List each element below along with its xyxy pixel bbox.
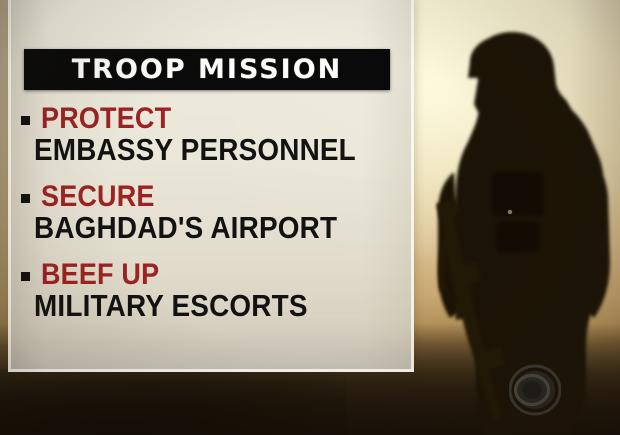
ground-shadow <box>0 369 347 435</box>
broadcast-screen: TROOP MISSION PROTECT EMBASSY PERSONNEL … <box>0 0 620 435</box>
square-bullet-icon <box>21 194 30 203</box>
bullet-detail: MILITARY ESCORTS <box>34 290 368 322</box>
bullet-detail: EMBASSY PERSONNEL <box>34 134 368 166</box>
panel-title: TROOP MISSION <box>72 56 343 83</box>
bullet-detail: BAGHDAD'S AIRPORT <box>34 212 368 244</box>
cbs-eye-logo-icon <box>509 364 561 416</box>
list-item: SECURE BAGHDAD'S AIRPORT <box>13 182 405 244</box>
bullet-heading: PROTECT <box>41 104 369 133</box>
list-item: PROTECT EMBASSY PERSONNEL <box>13 104 405 166</box>
bullet-heading: BEEF UP <box>41 260 369 289</box>
mission-bullet-list: PROTECT EMBASSY PERSONNEL SECURE BAGHDAD… <box>13 104 405 322</box>
square-bullet-icon <box>21 272 30 281</box>
soldier-silhouette <box>396 22 620 435</box>
bullet-heading: SECURE <box>41 182 369 211</box>
panel-title-bar: TROOP MISSION <box>24 49 390 90</box>
square-bullet-icon <box>21 116 30 125</box>
list-item: BEEF UP MILITARY ESCORTS <box>13 260 405 322</box>
